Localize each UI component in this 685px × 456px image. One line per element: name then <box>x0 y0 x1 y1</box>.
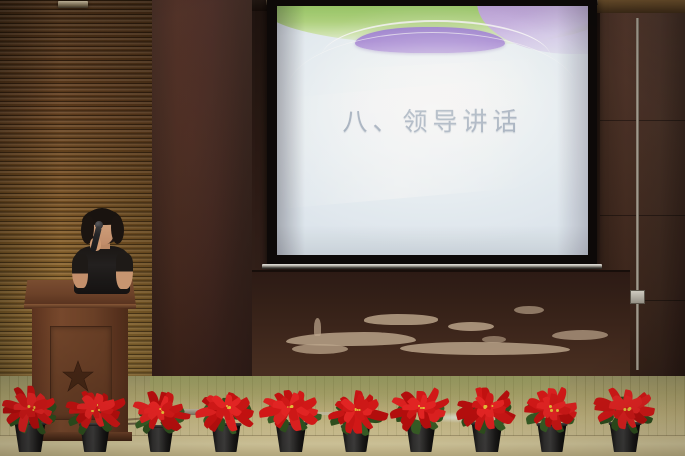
paint-peel-flake <box>552 330 608 340</box>
screen-surface: 八、领导讲话 <box>277 6 588 255</box>
wall-outlet-box[interactable] <box>630 290 645 304</box>
female-speaker <box>66 208 138 294</box>
poinsettia-center <box>491 405 493 407</box>
poinsettia-plant <box>453 377 521 452</box>
poinsettia-foliage <box>259 383 322 430</box>
dark-wood-column <box>152 0 252 400</box>
wall-panel-seam <box>600 120 685 121</box>
vertical-conduit-pipe <box>636 18 639 370</box>
poinsettia-center <box>226 405 228 407</box>
paint-peel-flake <box>400 342 570 355</box>
paint-peel-flake <box>314 318 321 336</box>
poinsettia-center <box>27 405 30 408</box>
poinsettia-foliage <box>326 386 387 431</box>
poinsettia-foliage <box>521 384 583 430</box>
poinsettia-foliage <box>455 383 518 430</box>
poinsettia-center <box>98 409 100 411</box>
poinsettia-plant <box>126 381 194 452</box>
poinsettia-plant <box>0 377 64 452</box>
wall-panel-seam <box>600 215 685 216</box>
ceiling-warm-strip <box>596 0 685 13</box>
auditorium-scene: 八、领导讲话 <box>0 0 685 456</box>
speaker-arm-left <box>72 254 88 288</box>
poinsettia-foliage <box>130 388 190 432</box>
poinsettia-plant <box>61 378 129 452</box>
paint-peel-flake <box>292 344 348 354</box>
paint-peel-flake <box>448 322 494 331</box>
poinsettia-foliage <box>593 383 656 430</box>
slide-title-text: 八、领导讲话 <box>277 102 588 138</box>
poinsettia-center <box>227 407 229 409</box>
poinsettia-foliage <box>390 384 452 430</box>
poinsettia-plant <box>192 378 260 452</box>
speaker-arm-right <box>116 253 133 289</box>
ceiling-light-fixture <box>58 1 88 8</box>
paint-peel-flake <box>514 306 544 314</box>
poinsettia-foliage <box>0 383 62 430</box>
peeling-paint-patch <box>252 270 630 376</box>
poinsettia-plant <box>591 377 659 452</box>
projection-screen[interactable]: 八、领导讲话 <box>267 0 597 266</box>
poinsettia-foliage <box>64 384 126 430</box>
poinsettia-center <box>290 406 293 409</box>
poinsettia-center <box>483 406 485 408</box>
poinsettia-plant <box>518 378 586 452</box>
poinsettia-center <box>550 409 553 412</box>
speaker-hair-side <box>111 216 124 244</box>
screen-weight-bar <box>262 264 602 269</box>
poinsettia-plant <box>322 379 390 452</box>
paint-peel-flake <box>364 314 438 325</box>
paint-peel-flake <box>482 336 506 343</box>
poinsettia-plant <box>387 378 455 452</box>
poinsettia-foliage <box>195 384 257 430</box>
poinsettia-center <box>357 409 359 411</box>
poinsettia-plant <box>257 377 325 452</box>
